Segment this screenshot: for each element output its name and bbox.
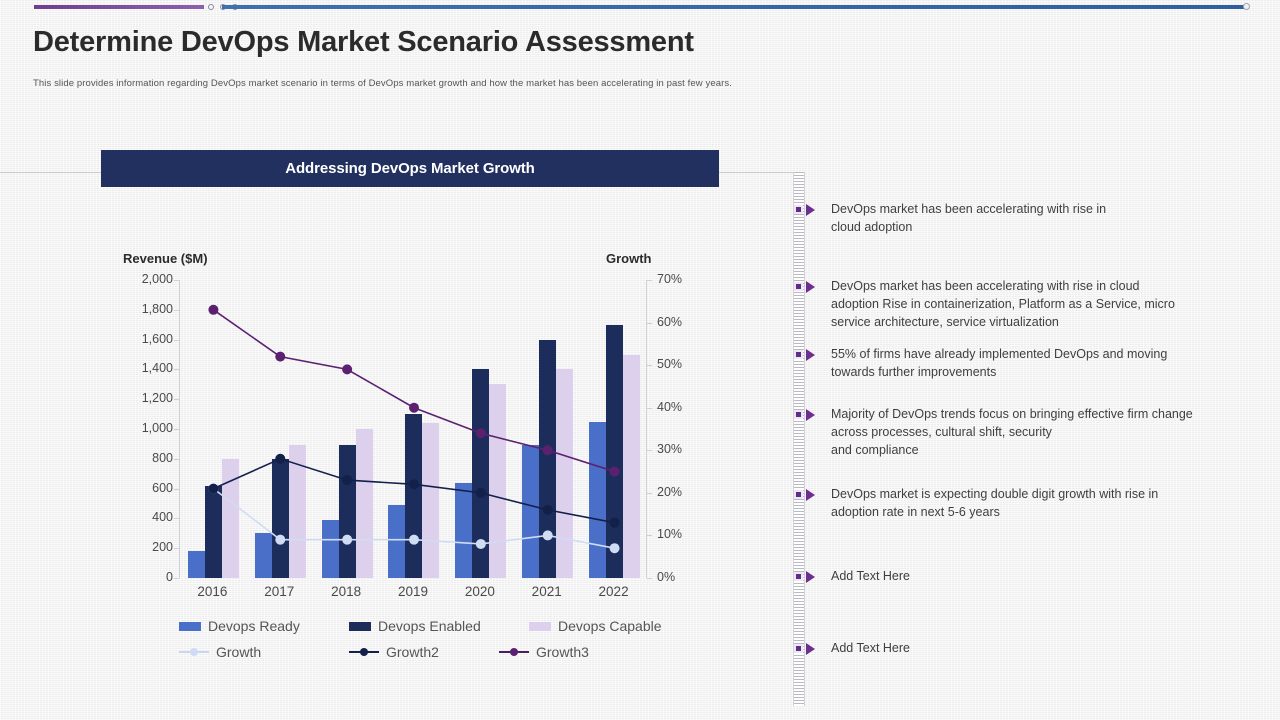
list-item-text: DevOps market is expecting double digit …: [831, 485, 1158, 521]
list-item-text: Add Text Here: [831, 639, 910, 657]
chart-plot-area: [179, 280, 647, 578]
square-bullet-icon: [794, 350, 803, 359]
list-item-text: DevOps market has been accelerating with…: [831, 277, 1175, 331]
square-bullet-icon: [794, 644, 803, 653]
y-axis-title: Revenue ($M): [123, 251, 208, 266]
y-axis-tick-label: 0: [103, 570, 173, 584]
legend-swatch-icon: [529, 622, 551, 631]
bullet-marker: [793, 487, 823, 501]
triangle-bullet-icon: [806, 409, 815, 421]
chart-line-marker: [275, 352, 285, 362]
y-axis-tick-mark: [174, 399, 179, 400]
list-item[interactable]: Majority of DevOps trends focus on bring…: [793, 405, 1193, 459]
chart-line-marker: [543, 505, 553, 515]
triangle-bullet-icon: [806, 349, 815, 361]
y-axis-tick-mark: [174, 548, 179, 549]
square-bullet-icon: [794, 205, 803, 214]
square-bullet-icon: [794, 410, 803, 419]
list-item[interactable]: 55% of firms have already implemented De…: [793, 345, 1167, 381]
list-item[interactable]: DevOps market has been accelerating with…: [793, 277, 1175, 331]
chart-line-marker: [476, 539, 486, 549]
chart-line-marker: [342, 535, 352, 545]
chart-legend: Devops Ready Devops Enabled Devops Capab…: [179, 618, 739, 670]
chart-line-marker: [409, 479, 419, 489]
y2-axis-tick-label: 0%: [657, 570, 675, 584]
y-axis-tick-label: 1,000: [103, 421, 173, 435]
bullet-marker: [793, 202, 823, 216]
chart-line-marker: [610, 467, 620, 477]
top-bar-blue-segment: [222, 5, 1247, 9]
legend-line-icon: [179, 647, 209, 657]
y2-axis-tick-label: 50%: [657, 357, 682, 371]
triangle-bullet-icon: [806, 489, 815, 501]
legend-item-growth3[interactable]: Growth3: [499, 644, 589, 660]
square-bullet-icon: [794, 572, 803, 581]
top-bar-endcap-icon: [1243, 3, 1250, 10]
list-item-text: DevOps market has been accelerating with…: [831, 200, 1106, 236]
top-bar-purple-segment: [34, 5, 204, 9]
section-banner-title: Addressing DevOps Market Growth: [285, 160, 534, 177]
legend-line-icon: [499, 647, 529, 657]
chart-line-marker: [543, 445, 553, 455]
y-axis-tick-label: 400: [103, 510, 173, 524]
legend-item-growth2[interactable]: Growth2: [349, 644, 439, 660]
triangle-bullet-icon: [806, 204, 815, 216]
y2-axis-tick-label: 10%: [657, 527, 682, 541]
y2-axis-tick-mark: [647, 578, 652, 579]
square-bullet-icon: [794, 490, 803, 499]
x-axis-tick-label: 2020: [465, 584, 495, 599]
legend-item-growth[interactable]: Growth: [179, 644, 261, 660]
list-item-text: 55% of firms have already implemented De…: [831, 345, 1167, 381]
y2-axis-title: Growth: [606, 251, 652, 266]
chart-lines-layer: [180, 280, 648, 578]
page-title: Determine DevOps Market Scenario Assessm…: [33, 26, 694, 59]
y2-axis-tick-mark: [647, 408, 652, 409]
legend-label: Devops Capable: [558, 618, 662, 634]
y2-axis-tick-label: 40%: [657, 400, 682, 414]
y-axis-tick-mark: [174, 280, 179, 281]
chart-line-marker: [409, 403, 419, 413]
x-axis-tick-label: 2022: [599, 584, 629, 599]
dot-icon: [208, 4, 214, 10]
legend-item-devops-ready[interactable]: Devops Ready: [179, 618, 300, 634]
square-bullet-icon: [794, 282, 803, 291]
legend-label: Devops Ready: [208, 618, 300, 634]
x-axis-tick-labels: 2016201720182019202020212022: [179, 584, 647, 604]
legend-item-devops-capable[interactable]: Devops Capable: [529, 618, 662, 634]
y2-axis-tick-label: 20%: [657, 485, 682, 499]
chart-line-marker: [476, 428, 486, 438]
triangle-bullet-icon: [806, 643, 815, 655]
legend-swatch-icon: [349, 622, 371, 631]
y2-axis-tick-mark: [647, 493, 652, 494]
y-axis-tick-mark: [174, 340, 179, 341]
triangle-bullet-icon: [806, 571, 815, 583]
chart-line-marker: [275, 535, 285, 545]
chart-line-marker: [208, 305, 218, 315]
y-axis-tick-mark: [174, 489, 179, 490]
x-axis-tick-label: 2016: [197, 584, 227, 599]
bullet-marker: [793, 569, 823, 583]
y-axis-tick-label: 1,400: [103, 361, 173, 375]
y-axis-tick-mark: [174, 429, 179, 430]
list-item[interactable]: DevOps market has been accelerating with…: [793, 200, 1106, 236]
page-subtitle: This slide provides information regardin…: [33, 78, 933, 89]
legend-swatch-icon: [179, 622, 201, 631]
y2-axis-tick-mark: [647, 280, 652, 281]
list-item[interactable]: DevOps market is expecting double digit …: [793, 485, 1158, 521]
y2-axis-tick-mark: [647, 535, 652, 536]
x-axis-tick-label: 2019: [398, 584, 428, 599]
legend-label: Growth2: [386, 644, 439, 660]
list-item-text: Add Text Here: [831, 567, 910, 585]
triangle-bullet-icon: [806, 281, 815, 293]
bullet-marker: [793, 279, 823, 293]
bullet-marker: [793, 347, 823, 361]
legend-line-icon: [349, 647, 379, 657]
chart-line-marker: [543, 530, 553, 540]
bullet-marker: [793, 641, 823, 655]
top-decorative-bar: [0, 0, 1280, 14]
chart-line-marker: [476, 488, 486, 498]
chart-line: [213, 310, 614, 472]
y-axis-tick-label: 800: [103, 451, 173, 465]
legend-row-lines: Growth Growth2 Growth3: [179, 644, 739, 670]
x-axis-tick-label: 2018: [331, 584, 361, 599]
legend-row-bars: Devops Ready Devops Enabled Devops Capab…: [179, 618, 739, 644]
list-item[interactable]: Add Text Here: [793, 567, 910, 585]
x-axis-tick-label: 2017: [264, 584, 294, 599]
y-axis-tick-label: 2,000: [103, 272, 173, 286]
y-axis-tick-label: 1,800: [103, 302, 173, 316]
y2-axis-tick-label: 30%: [657, 442, 682, 456]
y2-axis-tick-mark: [647, 365, 652, 366]
section-banner: Addressing DevOps Market Growth: [101, 150, 719, 187]
chart-line-marker: [610, 543, 620, 553]
y2-axis-tick-mark: [647, 450, 652, 451]
y-axis-tick-mark: [174, 369, 179, 370]
chart-line-marker: [610, 518, 620, 528]
legend-label: Growth: [216, 644, 261, 660]
list-item-text: Majority of DevOps trends focus on bring…: [831, 405, 1193, 459]
y-axis-tick-mark: [174, 578, 179, 579]
y2-axis-tick-label: 60%: [657, 315, 682, 329]
chart-line-marker: [275, 454, 285, 464]
y-axis-tick-label: 1,200: [103, 391, 173, 405]
chart-line-marker: [208, 484, 218, 494]
y-axis-tick-label: 1,600: [103, 332, 173, 346]
bullet-marker: [793, 407, 823, 421]
y-axis-tick-label: 600: [103, 481, 173, 495]
chart-line-marker: [409, 535, 419, 545]
chart-line-marker: [342, 364, 352, 374]
legend-label: Growth3: [536, 644, 589, 660]
legend-item-devops-enabled[interactable]: Devops Enabled: [349, 618, 481, 634]
y2-axis-tick-label: 70%: [657, 272, 682, 286]
y2-axis-tick-mark: [647, 323, 652, 324]
y-axis-tick-mark: [174, 459, 179, 460]
devops-market-chart: Revenue ($M) Growth 02004006008001,0001,…: [101, 240, 741, 670]
list-item[interactable]: Add Text Here: [793, 639, 910, 657]
chart-line: [213, 459, 614, 523]
y-axis-tick-label: 200: [103, 540, 173, 554]
y-axis-tick-mark: [174, 518, 179, 519]
legend-label: Devops Enabled: [378, 618, 481, 634]
y-axis-tick-mark: [174, 310, 179, 311]
x-axis-tick-label: 2021: [532, 584, 562, 599]
chart-line-marker: [342, 475, 352, 485]
